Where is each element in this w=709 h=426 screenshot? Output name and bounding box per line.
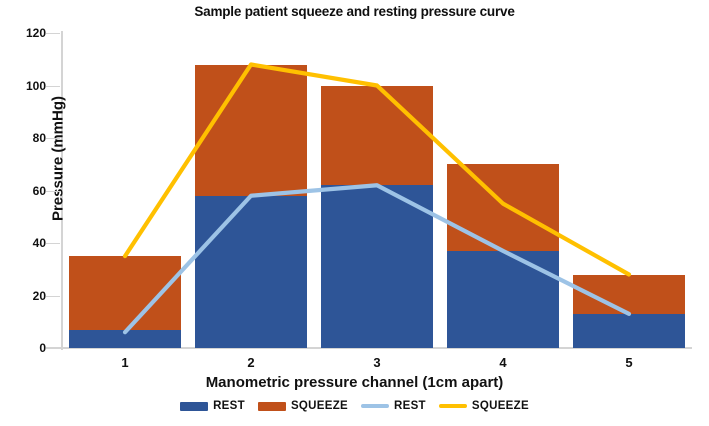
y-tick-mark xyxy=(46,86,60,87)
chart-title: Sample patient squeeze and resting press… xyxy=(0,4,709,19)
line-series-squeeze xyxy=(125,65,629,275)
line-series-layer xyxy=(62,33,692,348)
y-tick-mark xyxy=(46,33,60,34)
legend-line-swatch xyxy=(361,404,389,408)
y-tick-label: 80 xyxy=(12,131,46,145)
y-tick-label: 20 xyxy=(12,289,46,303)
plot-area xyxy=(62,33,692,348)
y-tick-mark xyxy=(46,191,60,192)
line-series-rest xyxy=(125,185,629,332)
y-axis-tick-labels: Pressure (mmHg) xyxy=(10,0,52,426)
y-tick-mark xyxy=(46,296,60,297)
legend-item[interactable]: REST xyxy=(361,400,426,412)
y-tick-mark xyxy=(46,138,60,139)
legend-item[interactable]: REST xyxy=(180,400,245,412)
chart-legend: RESTSQUEEZERESTSQUEEZE xyxy=(0,400,709,412)
y-tick-label: 60 xyxy=(12,184,46,198)
legend-item[interactable]: SQUEEZE xyxy=(439,400,529,412)
y-tick-label: 0 xyxy=(12,341,46,355)
y-tick-label: 100 xyxy=(12,79,46,93)
chart-root: Sample patient squeeze and resting press… xyxy=(0,0,709,426)
y-tick-label: 40 xyxy=(12,236,46,250)
x-tick-label: 5 xyxy=(625,355,632,370)
x-tick-label: 3 xyxy=(373,355,380,370)
y-tick-mark xyxy=(46,243,60,244)
legend-bar-swatch xyxy=(258,402,286,411)
x-tick-label: 2 xyxy=(247,355,254,370)
legend-label: SQUEEZE xyxy=(291,400,348,412)
x-tick-label: 1 xyxy=(121,355,128,370)
legend-label: REST xyxy=(213,400,245,412)
legend-label: SQUEEZE xyxy=(472,400,529,412)
y-tick-mark xyxy=(46,348,60,349)
legend-bar-swatch xyxy=(180,402,208,411)
x-axis-title: Manometric pressure channel (1cm apart) xyxy=(0,374,709,391)
legend-line-swatch xyxy=(439,404,467,408)
y-tick-label: 120 xyxy=(12,26,46,40)
legend-item[interactable]: SQUEEZE xyxy=(258,400,348,412)
legend-label: REST xyxy=(394,400,426,412)
x-tick-label: 4 xyxy=(499,355,506,370)
